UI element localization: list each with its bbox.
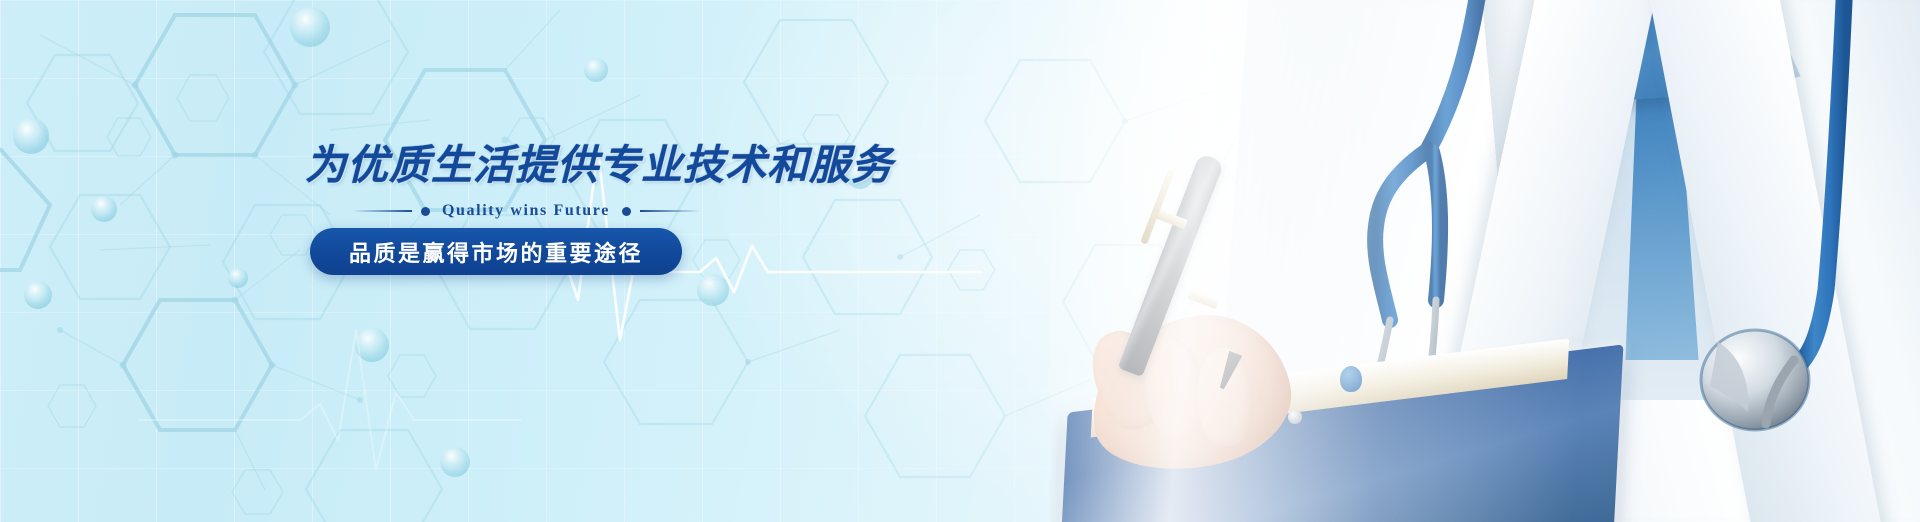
doctor-photo <box>1050 0 1920 522</box>
subtitle-dot-right <box>622 207 631 216</box>
banner-content: 为优质生活提供专业技术和服务 Quality wins Future 品质是赢得… <box>0 0 900 522</box>
medical-hero-banner: 为优质生活提供专业技术和服务 Quality wins Future 品质是赢得… <box>0 0 1920 522</box>
subtitle-row: Quality wins Future <box>352 202 700 220</box>
tagline-pill-button[interactable]: 品质是赢得市场的重要途径 <box>310 228 682 275</box>
subtitle-rule-right <box>640 210 700 212</box>
subtitle-en: Quality wins Future <box>439 202 613 220</box>
page-title: 为优质生活提供专业技术和服务 <box>305 131 893 191</box>
tagline-pill-label: 品质是赢得市场的重要途径 <box>349 236 643 268</box>
subtitle-rule-left <box>352 210 412 212</box>
photo-light-wash <box>1050 0 1920 522</box>
subtitle-dot-left <box>421 207 430 216</box>
